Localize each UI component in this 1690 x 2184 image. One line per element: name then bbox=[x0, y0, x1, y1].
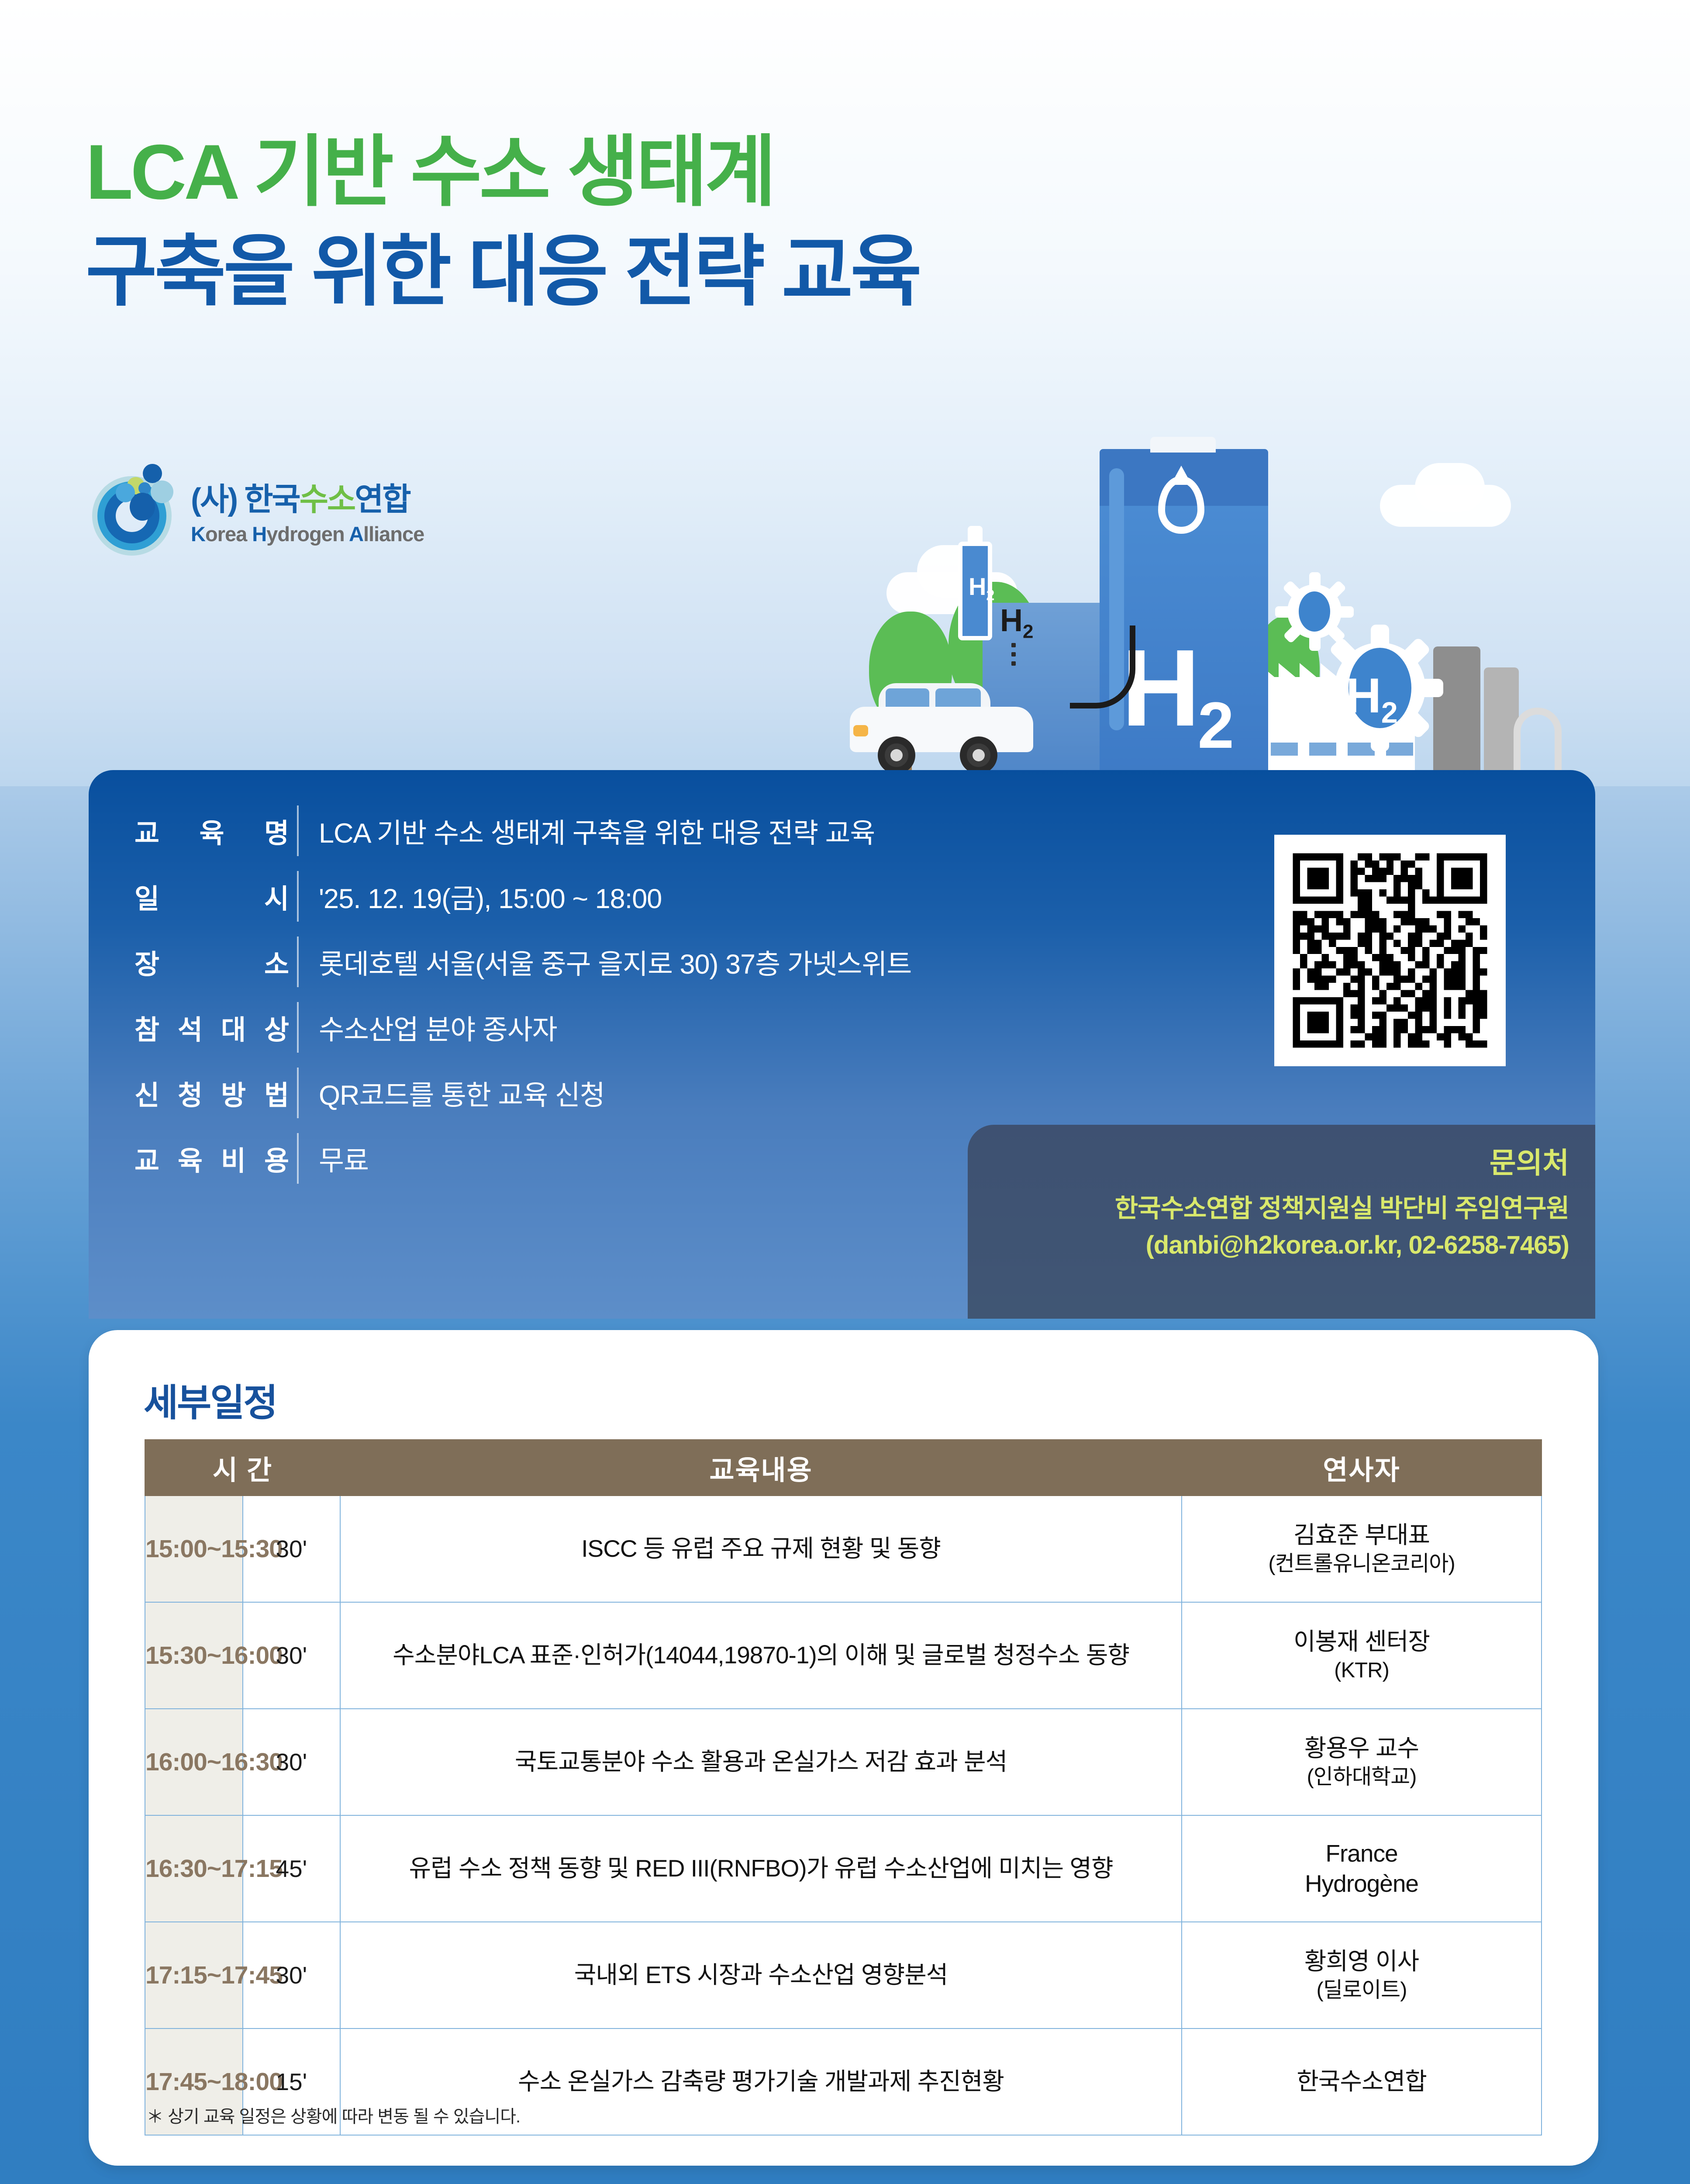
cell-time: 16:00~16:30 bbox=[145, 1709, 243, 1815]
divider bbox=[297, 805, 299, 856]
contact-person: 한국수소연합 정책지원실 박단비 주임연구원 bbox=[968, 1188, 1569, 1224]
divider bbox=[297, 1002, 299, 1053]
speaker-affiliation: (인하대학교) bbox=[1182, 1764, 1541, 1791]
logo-kr-part3: 연합 bbox=[355, 482, 410, 517]
logo-kr-part2: 수소 bbox=[300, 482, 355, 517]
divider bbox=[297, 1133, 299, 1184]
column-header-time: 시 간 bbox=[145, 1440, 340, 1496]
table-row: 16:00~16:30 30' 국토교통분야 수소 활용과 온실가스 저감 효과… bbox=[145, 1709, 1542, 1815]
speaker-affiliation: Hydrogène bbox=[1182, 1869, 1541, 1899]
info-label: 교육비용 bbox=[130, 1139, 293, 1178]
info-label: 장소 bbox=[130, 942, 293, 981]
info-label: 교육명 bbox=[130, 811, 293, 850]
schedule-note: ＊ 상기 교육 일정은 상황에 따라 변동 될 수 있습니다. bbox=[146, 2102, 520, 2128]
qr-code[interactable] bbox=[1274, 835, 1506, 1066]
logo-korean-name: (사) 한국수소연합 bbox=[191, 473, 424, 519]
info-label: 참석대상 bbox=[130, 1008, 293, 1047]
cell-topic: 국토교통분야 수소 활용과 온실가스 저감 효과 분석 bbox=[340, 1709, 1182, 1815]
title-line-2: 구축을 위한 대응 전략 교육 bbox=[86, 222, 919, 321]
logo-en-h: H bbox=[252, 522, 266, 546]
organization-logo: (사) 한국수소연합 Korea Hydrogen Alliance bbox=[90, 454, 448, 559]
speaker-name: 황희영 이사 bbox=[1182, 1946, 1541, 1977]
logo-text: (사) 한국수소연합 Korea Hydrogen Alliance bbox=[191, 473, 424, 546]
info-row-datetime: 일시 '25. 12. 19(금), 15:00 ~ 18:00 bbox=[130, 864, 911, 929]
pillar-cap bbox=[1150, 437, 1216, 453]
info-row-registration: 신청방법 QR코드를 통한 교육 신청 bbox=[130, 1060, 911, 1126]
event-info-panel: 교육명 LCA 기반 수소 생태계 구축을 위한 대응 전략 교육 일시 '25… bbox=[89, 770, 1595, 1319]
factory-window bbox=[1271, 743, 1298, 756]
info-value: '25. 12. 19(금), 15:00 ~ 18:00 bbox=[319, 877, 662, 916]
schedule-table: 시 간 교육내용 연사자 15:00~15:30 30' ISCC 등 유럽 주… bbox=[145, 1439, 1542, 2136]
info-value: QR코드를 통한 교육 신청 bbox=[319, 1073, 605, 1113]
info-value: 무료 bbox=[319, 1139, 369, 1178]
cell-topic: 수소분야LCA 표준·인허가(14044,19870-1)의 이해 및 글로벌 … bbox=[340, 1602, 1182, 1709]
cell-time: 15:30~16:00 bbox=[145, 1602, 243, 1709]
logo-kr-part1: (사) 한국 bbox=[191, 482, 300, 517]
speaker-name: 김효준 부대표 bbox=[1182, 1520, 1541, 1550]
cloud-icon bbox=[1415, 463, 1485, 512]
info-row-venue: 장소 롯데호텔 서울(서울 중구 을지로 30) 37층 가넷스위트 bbox=[130, 929, 911, 995]
table-header-row: 시 간 교육내용 연사자 bbox=[145, 1440, 1542, 1496]
hero-section: LCA 기반 수소 생태계 구축을 위한 대응 전략 교육 (사) 한국수소연합… bbox=[0, 0, 1690, 786]
speaker-name: 이봉재 센터장 bbox=[1182, 1627, 1541, 1657]
qr-code-icon[interactable] bbox=[1286, 846, 1494, 1055]
cell-time: 17:15~17:45 bbox=[145, 1922, 243, 2028]
cell-time: 16:30~17:15 bbox=[145, 1815, 243, 1922]
logo-en-a: A bbox=[349, 522, 363, 546]
speaker-name: France bbox=[1182, 1838, 1541, 1869]
dotted-line bbox=[1011, 643, 1016, 670]
hydrogen-station-illustration: H2 H2 H2 H2 bbox=[808, 428, 1550, 782]
event-info-rows: 교육명 LCA 기반 수소 생태계 구축을 위한 대응 전략 교육 일시 '25… bbox=[130, 798, 911, 1191]
info-label: 일시 bbox=[130, 877, 293, 916]
cell-topic: 유럽 수소 정책 동향 및 RED III(RNFBO)가 유럽 수소산업에 미… bbox=[340, 1815, 1182, 1922]
logo-en-k: K bbox=[191, 522, 205, 546]
logo-en-ydrogen: ydrogen bbox=[266, 522, 349, 546]
divider bbox=[297, 1068, 299, 1118]
speaker-name: 황용우 교수 bbox=[1182, 1733, 1541, 1763]
info-value: LCA 기반 수소 생태계 구축을 위한 대응 전략 교육 bbox=[319, 811, 875, 851]
table-row: 16:30~17:15 45' 유럽 수소 정책 동향 및 RED III(RN… bbox=[145, 1815, 1542, 1922]
cell-speaker: 이봉재 센터장 (KTR) bbox=[1182, 1602, 1542, 1709]
speaker-affiliation: (컨트롤유니온코리아) bbox=[1182, 1551, 1541, 1578]
logo-en-lliance: lliance bbox=[363, 522, 424, 546]
info-row-audience: 참석대상 수소산업 분야 종사자 bbox=[130, 995, 911, 1060]
cell-speaker: 황용우 교수 (인하대학교) bbox=[1182, 1709, 1542, 1815]
info-value: 수소산업 분야 종사자 bbox=[319, 1008, 557, 1047]
cell-topic: 국내외 ETS 시장과 수소산업 영향분석 bbox=[340, 1922, 1182, 2028]
contact-email-phone[interactable]: (danbi@h2korea.or.kr, 02-6258-7465) bbox=[968, 1230, 1569, 1260]
logo-english-name: Korea Hydrogen Alliance bbox=[191, 522, 424, 546]
info-value: 롯데호텔 서울(서울 중구 을지로 30) 37층 가넷스위트 bbox=[319, 942, 911, 982]
speaker-affiliation: (딜로이트) bbox=[1182, 1977, 1541, 2004]
logo-en-orea: orea bbox=[205, 522, 252, 546]
table-row: 17:15~17:45 30' 국내외 ETS 시장과 수소산업 영향분석 황희… bbox=[145, 1922, 1542, 2028]
schedule-card: 세부일정 시 간 교육내용 연사자 15:00~15:30 30' ISCC 등… bbox=[89, 1330, 1598, 2166]
info-label: 신청방법 bbox=[130, 1073, 293, 1113]
speaker-name: 한국수소연합 bbox=[1182, 2067, 1541, 2097]
column-header-speaker: 연사자 bbox=[1182, 1440, 1542, 1496]
gear-h2-label: H2 bbox=[1346, 667, 1398, 729]
divider bbox=[297, 871, 299, 922]
contact-box: 문의처 한국수소연합 정책지원실 박단비 주임연구원 (danbi@h2kore… bbox=[968, 1125, 1595, 1319]
cell-speaker: 한국수소연합 bbox=[1182, 2028, 1542, 2135]
hydrogen-car-icon bbox=[850, 673, 1038, 764]
cell-topic: ISCC 등 유럽 주요 규제 현황 및 동향 bbox=[340, 1496, 1182, 1602]
nozzle-h2-label: H2 bbox=[969, 572, 994, 604]
cell-speaker: 황희영 이사 (딜로이트) bbox=[1182, 1922, 1542, 2028]
table-row: 15:30~16:00 30' 수소분야LCA 표준·인허가(14044,198… bbox=[145, 1602, 1542, 1709]
schedule-section-title: 세부일정 bbox=[144, 1372, 276, 1427]
divider bbox=[297, 936, 299, 987]
cell-time: 15:00~15:30 bbox=[145, 1496, 243, 1602]
speaker-affiliation: (KTR) bbox=[1182, 1657, 1541, 1684]
cell-speaker: 김효준 부대표 (컨트롤유니온코리아) bbox=[1182, 1496, 1542, 1602]
h2-small-label: H2 bbox=[1000, 603, 1033, 643]
info-row-fee: 교육비용 무료 bbox=[130, 1126, 911, 1191]
column-header-topic: 교육내용 bbox=[340, 1440, 1182, 1496]
logo-mark-icon bbox=[90, 464, 181, 556]
info-row-course-name: 교육명 LCA 기반 수소 생태계 구축을 위한 대응 전략 교육 bbox=[130, 798, 911, 864]
contact-title: 문의처 bbox=[968, 1140, 1569, 1182]
table-row: 15:00~15:30 30' ISCC 등 유럽 주요 규제 현황 및 동향 … bbox=[145, 1496, 1542, 1602]
page-title: LCA 기반 수소 생태계 구축을 위한 대응 전략 교육 bbox=[86, 122, 919, 321]
cell-speaker: France Hydrogène bbox=[1182, 1815, 1542, 1922]
pillar-h2-label: H2 bbox=[1121, 633, 1231, 758]
title-line-1: LCA 기반 수소 생태계 bbox=[86, 122, 919, 222]
